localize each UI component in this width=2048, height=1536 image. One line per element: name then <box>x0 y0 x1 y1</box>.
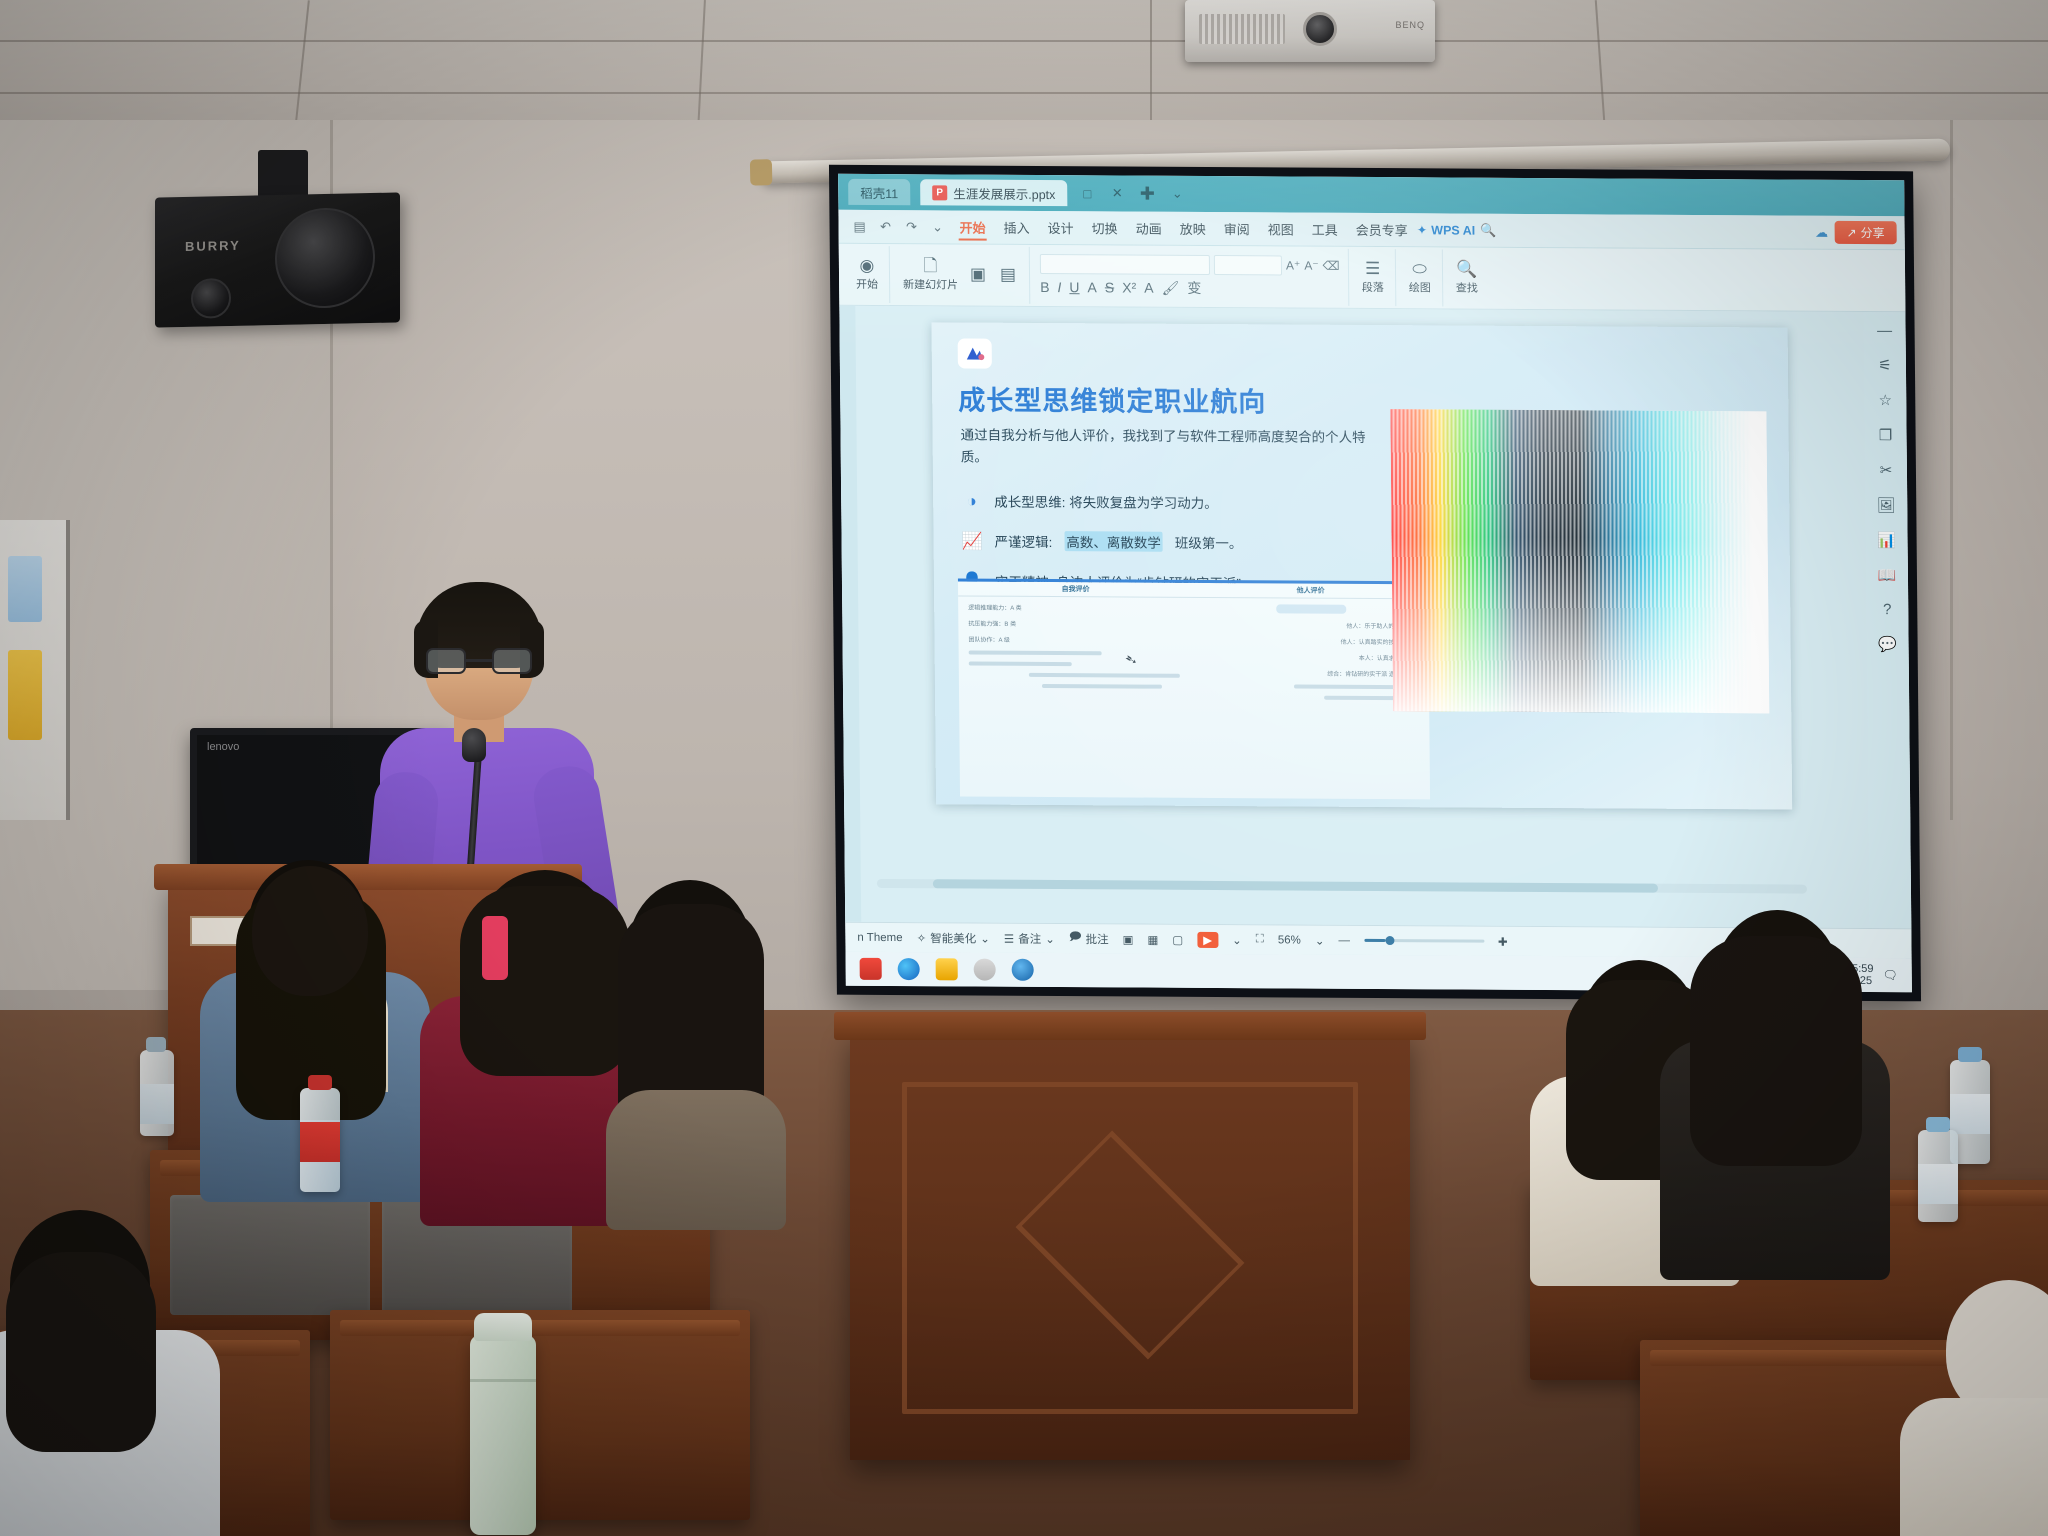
font-size-select[interactable] <box>1214 255 1282 275</box>
scissors-icon[interactable]: ✂ <box>1880 461 1893 479</box>
duplicate-icon[interactable]: ❐ <box>1879 426 1893 444</box>
presenter-glasses <box>426 648 532 674</box>
font-color-button[interactable]: A <box>1144 280 1153 296</box>
microphone-head <box>462 728 486 762</box>
strikethrough-button[interactable]: S <box>1105 279 1114 295</box>
board-note-blue <box>8 556 42 622</box>
ribbon-spacer <box>1501 230 1808 232</box>
paragraph-button[interactable]: ☰ 段落 <box>1359 260 1387 295</box>
wps-office-window: 稻壳11 P 生涯发展展示.pptx □ ✕ ✚ ⌄ ▤ ↶ ↷ <box>838 174 1912 992</box>
projector-brand: BENQ <box>1395 20 1425 30</box>
projected-image: 稻壳11 P 生涯发展展示.pptx □ ✕ ✚ ⌄ ▤ ↶ ↷ <box>838 174 1912 992</box>
app-taskbar-icon[interactable] <box>1012 959 1034 981</box>
beautify-icon: ✧ <box>917 931 927 945</box>
font-format-row: B I U A S X² A 🖌 变 <box>1040 277 1340 299</box>
chart-insert-icon[interactable]: 📊 <box>1877 531 1896 549</box>
section-button[interactable]: ▤ <box>995 266 1021 285</box>
desk-row-left-front <box>330 1310 750 1520</box>
theme-label: n Theme <box>857 931 902 943</box>
slide-logo-icon <box>958 338 992 368</box>
share-button[interactable]: ↗ 分享 <box>1834 221 1896 244</box>
toolbar-group-font: A⁺ A⁻ ⌫ B I U A S X² A <box>1032 247 1349 306</box>
share-icon: ↗ <box>1847 225 1857 239</box>
water-bottle-left-2 <box>140 1050 174 1136</box>
hair-clip-icon <box>482 916 508 980</box>
store-taskbar-icon[interactable] <box>974 959 996 981</box>
view-reading-button[interactable]: ▢ <box>1172 932 1183 946</box>
find-icon: 🔍 <box>1456 261 1477 278</box>
ribbon-tab-slideshow[interactable]: 放映 <box>1171 214 1215 242</box>
current-slide[interactable]: 成长型思维锁定职业航向 通过自我分析与他人评价，我找到了与软件工程师高度契合的个… <box>931 322 1792 809</box>
ribbon-tab-view[interactable]: 视图 <box>1259 215 1303 243</box>
notes-label: 备注 <box>1018 930 1041 946</box>
projection-screen: 稻壳11 P 生涯发展展示.pptx □ ✕ ✚ ⌄ ▤ ↶ ↷ <box>829 165 1921 1002</box>
undo-icon[interactable]: ↶ <box>872 213 898 239</box>
speaker-tweeter <box>191 278 231 319</box>
start-slideshow-button[interactable]: ▶ <box>1197 931 1218 947</box>
bullet-item: 📈 严谨逻辑: 高数、离散数学 班级第一。 <box>961 530 1431 554</box>
zoom-slider-fill <box>1364 939 1386 942</box>
zoom-slider-handle[interactable] <box>1386 936 1395 945</box>
ai-sparkle-icon: ✦ <box>1417 222 1428 237</box>
toolbar-group-find: 🔍 查找 <box>1444 249 1489 306</box>
audience-person-right-front <box>1900 1280 2048 1536</box>
speaker-woofer <box>275 207 375 309</box>
zoom-level-label[interactable]: 56% <box>1278 934 1301 946</box>
zoom-out-button[interactable]: — <box>1338 934 1350 946</box>
bullet-text-tail: 班级第一。 <box>1175 532 1243 552</box>
slide-comparison-table: 自我评价 他人评价 逻辑推理能力：A 类 抗压能力强：B 类 团队协作：A 级 <box>958 578 1430 799</box>
wps-ai-label: WPS AI <box>1431 223 1475 237</box>
table-cta-chip[interactable] <box>1276 604 1346 613</box>
view-sorter-button[interactable]: ▦ <box>1147 932 1158 946</box>
ribbon-tab-review[interactable]: 审阅 <box>1215 215 1259 243</box>
wps-ai-button[interactable]: ✦ WPS AI <box>1417 222 1476 237</box>
star-icon[interactable]: ☆ <box>1878 391 1892 409</box>
desk-rail <box>340 1320 740 1336</box>
titlebar-spacer <box>1197 194 1894 198</box>
chart-line-icon: 📈 <box>961 530 982 551</box>
bottle-cap <box>308 1075 332 1090</box>
speaker-brand: BURRY <box>185 238 241 254</box>
wps-edit-area: 成长型思维锁定职业航向 通过自我分析与他人评价，我找到了与软件工程师高度契合的个… <box>839 306 1911 928</box>
beautify-caret-icon: ⌄ <box>980 931 990 945</box>
bullet-highlight: 高数、离散数学 <box>1064 531 1163 552</box>
layout-icon: ▣ <box>970 266 986 283</box>
minimize-icon[interactable]: — <box>1877 322 1892 339</box>
glasses-left-lens <box>426 648 466 674</box>
table-body: 逻辑推理能力：A 类 抗压能力强：B 类 团队协作：A 级 <box>958 596 1430 799</box>
qat-more-icon[interactable]: ⌄ <box>924 214 950 240</box>
thermos-ring <box>470 1379 536 1382</box>
find-label: 查找 <box>1456 280 1478 296</box>
table-col-header-self: 自我评价 <box>958 583 1193 594</box>
section-icon: ▤ <box>1000 266 1016 283</box>
explorer-taskbar-icon[interactable] <box>936 958 958 980</box>
bullet-text-prefix: 严谨逻辑: <box>994 531 1052 551</box>
bold-button[interactable]: B <box>1040 279 1049 295</box>
redo-icon[interactable]: ↷ <box>898 214 924 240</box>
font-controls: A⁺ A⁻ ⌫ B I U A S X² A <box>1040 254 1340 299</box>
bullet-item: ◑ 成长型思维: 将失败复盘为学习动力。 <box>961 490 1431 514</box>
paragraph-icon: ☰ <box>1365 260 1380 277</box>
paste-icon: ◉ <box>859 257 874 274</box>
layout-button[interactable]: ▣ <box>965 266 991 285</box>
roller-cap <box>750 159 772 185</box>
wall-speaker: BURRY <box>155 192 400 327</box>
zoom-in-button[interactable]: ✚ <box>1498 934 1508 948</box>
new-slide-label: 新建幻灯片 <box>903 276 958 292</box>
classroom-scene: BENQ BURRY 稻壳11 P 生涯发展展示.ppt <box>0 0 2048 1536</box>
artwork-fade-top <box>1390 409 1769 713</box>
board-note-yellow <box>8 650 42 740</box>
share-label: 分享 <box>1861 224 1885 241</box>
paste-label: 开始 <box>856 276 878 292</box>
beautify-button[interactable]: ✧ 智能美化 ⌄ <box>916 930 989 946</box>
cloud-upload-icon[interactable]: ☁ <box>1808 219 1834 245</box>
notes-icon: ☰ <box>1004 931 1014 945</box>
ribbon-tab-tools[interactable]: 工具 <box>1303 215 1347 243</box>
monitor-brand: lenovo <box>207 741 239 753</box>
brain-icon: ◑ <box>961 490 982 511</box>
slide-subtitle: 通过自我分析与他人评价，我找到了与软件工程师高度契合的个人特质。 <box>960 424 1390 471</box>
bottle-cap <box>146 1037 166 1052</box>
tab-more-icon[interactable]: ⌄ <box>1167 184 1187 204</box>
font-name-select[interactable] <box>1040 254 1210 275</box>
text-shadow-button[interactable]: A <box>1087 279 1096 295</box>
book-icon[interactable]: 📖 <box>1878 566 1897 584</box>
audience-person-frontleft <box>0 1210 230 1536</box>
wps-right-sidebar: — ⚟ ☆ ❐ ✂ 🖼 📊 📖 ? 💬 <box>1863 312 1911 928</box>
file-menu-icon[interactable]: ▤ <box>846 213 872 239</box>
grow-font-icon[interactable]: A⁺ <box>1286 258 1300 272</box>
audience-person-dark <box>1660 910 1890 1250</box>
zoom-slider[interactable] <box>1364 939 1484 943</box>
draw-button[interactable]: ⬭ 绘图 <box>1406 260 1434 295</box>
thermos-flask <box>470 1335 536 1535</box>
notes-button[interactable]: ☰ 备注 ⌄ <box>1004 930 1055 946</box>
front-center-desk <box>850 1030 1410 1460</box>
toolbar-group-draw: ⬭ 绘图 <box>1397 249 1443 306</box>
tab-close-icon[interactable]: ✕ <box>1107 183 1127 203</box>
ribbon-tab-member[interactable]: 会员专享 <box>1347 215 1417 243</box>
slide-decorative-artwork <box>1390 409 1769 713</box>
tab-docer-label: 稻壳11 <box>860 182 898 201</box>
wps-taskbar-icon[interactable] <box>860 958 882 980</box>
find-button[interactable]: 🔍 查找 <box>1453 261 1481 296</box>
comments-icon: 🗩 <box>1069 929 1082 948</box>
bottle-label <box>1918 1164 1958 1204</box>
paste-button[interactable]: ◉ 开始 <box>853 257 881 292</box>
new-tab-icon[interactable]: ✚ <box>1137 184 1157 204</box>
thermos-lid <box>474 1313 532 1341</box>
view-normal-button[interactable]: ▣ <box>1123 932 1134 946</box>
italic-button[interactable]: I <box>1057 279 1061 295</box>
ribbon-tab-animation[interactable]: 动画 <box>1127 214 1171 242</box>
tab-restore-icon[interactable]: □ <box>1077 183 1097 203</box>
ceiling-projector: BENQ <box>1185 0 1435 62</box>
ribbon-tab-insert[interactable]: 插入 <box>994 213 1038 241</box>
table-cell: 抗压能力强：B 类 <box>968 619 1183 629</box>
wps-home-toolbar: ◉ 开始 🗋 新建幻灯片 ▣ <box>839 244 1906 313</box>
draw-label: 绘图 <box>1409 279 1431 295</box>
picture-edit-icon[interactable]: 🖼 <box>1877 496 1896 514</box>
table-cell: 团队协作：A 级 <box>968 635 1183 645</box>
projector-vent <box>1199 14 1285 44</box>
superscript-button[interactable]: X² <box>1122 279 1136 295</box>
ribbon-search-icon[interactable]: 🔍 <box>1475 217 1501 243</box>
bottle-label <box>1950 1094 1990 1134</box>
shrink-font-icon[interactable]: A⁻ <box>1304 259 1318 273</box>
underline-button[interactable]: U <box>1069 279 1079 295</box>
glasses-bridge <box>466 659 492 662</box>
highlight-button[interactable]: 🖌 <box>1161 279 1179 296</box>
paragraph-label: 段落 <box>1362 279 1384 295</box>
comments-button[interactable]: 🗩 批注 <box>1069 929 1109 948</box>
draw-icon: ⬭ <box>1412 260 1427 277</box>
edge-taskbar-icon[interactable] <box>898 958 920 980</box>
notes-caret-icon: ⌄ <box>1045 931 1055 945</box>
slide-title: 成长型思维锁定职业航向 <box>958 378 1266 419</box>
toolbar-group-clipboard: ◉ 开始 <box>845 246 891 303</box>
table-col-self: 逻辑推理能力：A 类 抗压能力强：B 类 团队协作：A 级 <box>958 596 1195 799</box>
tab-active-label: 生涯发展展示.pptx <box>953 183 1055 203</box>
settings-slider-icon[interactable]: ⚟ <box>1878 356 1892 374</box>
clear-format-icon[interactable]: ⌫ <box>1323 259 1340 273</box>
horizontal-scrollbar[interactable] <box>877 879 1807 894</box>
tab-active-pptx[interactable]: P 生涯发展展示.pptx <box>920 179 1067 206</box>
slideshow-caret-icon[interactable]: ⌄ <box>1232 933 1242 947</box>
comment-icon[interactable]: 💬 <box>1878 635 1897 653</box>
slide-stage: 成长型思维锁定职业航向 通过自我分析与他人评价，我找到了与软件工程师高度契合的个… <box>855 306 1869 928</box>
comments-label: 批注 <box>1086 931 1109 947</box>
char-style-button[interactable]: 变 <box>1187 278 1201 298</box>
speaker-bracket <box>258 150 308 198</box>
water-bottle-left <box>300 1088 340 1192</box>
bottle-cap <box>1926 1117 1950 1132</box>
wall-board <box>0 520 70 820</box>
bottle-label <box>140 1084 174 1124</box>
ribbon-tab-home[interactable]: 开始 <box>950 213 994 241</box>
bullet-text: 成长型思维: 将失败复盘为学习动力。 <box>994 491 1218 512</box>
desk-top-edge <box>834 1012 1426 1040</box>
new-slide-button[interactable]: 🗋 新建幻灯片 <box>900 257 961 292</box>
toolbar-group-paragraph: ☰ 段落 <box>1350 249 1396 306</box>
bottle-cap <box>1958 1047 1982 1062</box>
toolbar-group-slides: 🗋 新建幻灯片 ▣ ▤ <box>892 246 1031 304</box>
projector-lens <box>1303 12 1337 46</box>
zoom-caret-icon[interactable]: ⌄ <box>1315 933 1325 947</box>
glasses-right-lens <box>492 648 532 674</box>
ribbon-tab-design[interactable]: 设计 <box>1038 213 1082 241</box>
beautify-label: 智能美化 <box>930 930 976 946</box>
water-bottle-right-2 <box>1918 1130 1958 1222</box>
audience-person-longhair <box>600 880 780 1200</box>
scrollbar-thumb[interactable] <box>933 879 1659 892</box>
fit-to-window-button[interactable]: ⛶ <box>1256 933 1264 946</box>
bottle-label <box>300 1122 340 1162</box>
new-slide-icon: 🗋 <box>924 257 938 274</box>
help-icon[interactable]: ? <box>1883 601 1892 618</box>
table-cell: 逻辑推理能力：A 类 <box>968 603 1183 613</box>
tab-docer[interactable]: 稻壳11 <box>848 179 910 205</box>
pptx-file-icon: P <box>932 185 947 200</box>
ribbon-tab-transition[interactable]: 切换 <box>1082 214 1126 242</box>
